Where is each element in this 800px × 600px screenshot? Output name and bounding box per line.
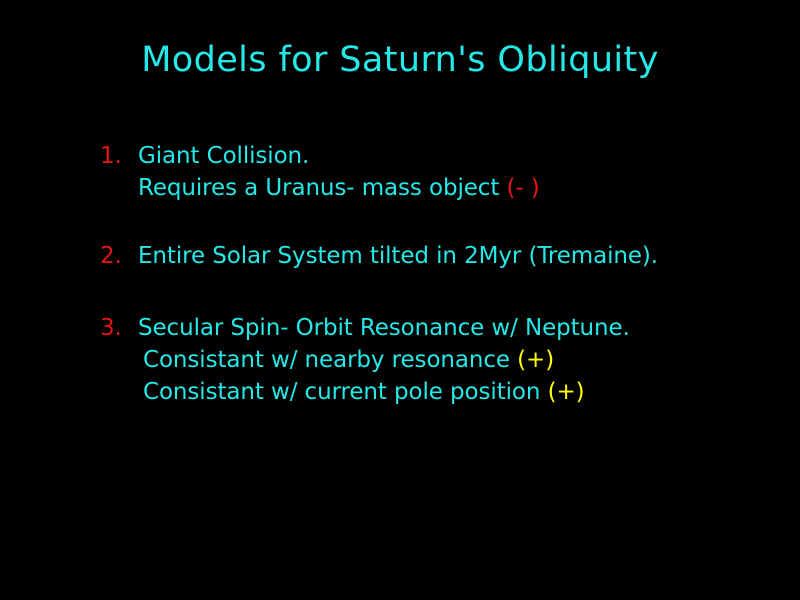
list-item-1-text: Giant Collision.	[138, 143, 309, 169]
list-item: 2.Entire Solar System tilted in 2Myr (Tr…	[100, 240, 780, 272]
list-item-3-sub-line-2: Consistant w/ current pole position (+)	[100, 376, 780, 408]
models-list: 1.Giant Collision. Requires a Uranus- ma…	[100, 140, 780, 408]
list-marker-3: 3.	[100, 312, 138, 344]
list-item-2-line-1: 2.Entire Solar System tilted in 2Myr (Tr…	[100, 240, 780, 272]
list-item-3-sub-2-text: Consistant w/ current pole position	[143, 379, 548, 405]
list-item-3-line-1: 3.Secular Spin- Orbit Resonance w/ Neptu…	[100, 312, 780, 344]
positive-marker-2: (+)	[548, 379, 585, 405]
list-item-3-sub-1-text: Consistant w/ nearby resonance	[143, 347, 517, 373]
negative-marker-1: (- )	[506, 175, 539, 201]
list-item: 1.Giant Collision. Requires a Uranus- ma…	[100, 140, 780, 204]
list-item-1-detail-text: Requires a Uranus- mass object	[138, 175, 506, 201]
list-item-1-line-1: 1.Giant Collision.	[100, 140, 780, 172]
list-item: 3.Secular Spin- Orbit Resonance w/ Neptu…	[100, 312, 780, 408]
list-item-2-text: Entire Solar System tilted in 2Myr (Trem…	[138, 243, 658, 269]
list-item-1-line-2: Requires a Uranus- mass object (- )	[100, 172, 780, 204]
presentation-slide: Models for Saturn's Obliquity 1.Giant Co…	[0, 0, 800, 600]
positive-marker-1: (+)	[517, 347, 554, 373]
list-marker-2: 2.	[100, 240, 138, 272]
page-title: Models for Saturn's Obliquity	[0, 40, 800, 80]
list-item-3-text: Secular Spin- Orbit Resonance w/ Neptune…	[138, 315, 630, 341]
list-marker-1: 1.	[100, 140, 138, 172]
list-item-3-sub-line-1: Consistant w/ nearby resonance (+)	[100, 344, 780, 376]
